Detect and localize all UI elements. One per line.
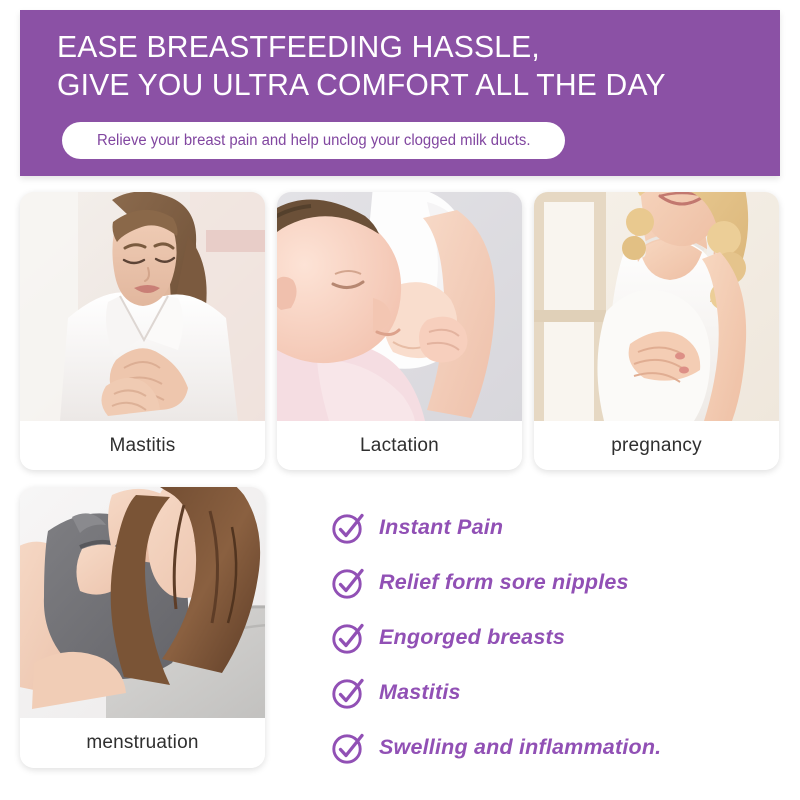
circle-check-icon [331, 676, 365, 710]
card-mastitis-label: Mastitis [110, 435, 176, 457]
card-mastitis[interactable]: Mastitis [20, 192, 265, 470]
card-pregnancy[interactable]: pregnancy [534, 192, 779, 470]
card-lactation-label: Lactation [360, 435, 439, 457]
benefit-item: Engorged breasts [331, 610, 781, 665]
circle-check-icon [331, 511, 365, 545]
circle-check-icon [331, 731, 365, 765]
benefit-text: Instant Pain [379, 515, 503, 540]
card-lactation-photo [277, 192, 522, 421]
benefit-item: Relief form sore nipples [331, 555, 781, 610]
card-menstruation-label-strip: menstruation [20, 718, 265, 768]
infographic-canvas: EASE BREASTFEEDING HASSLE, GIVE YOU ULTR… [0, 0, 800, 800]
benefit-item: Swelling and inflammation. [331, 720, 781, 775]
subtitle-text: Relieve your breast pain and help unclog… [97, 132, 530, 150]
benefit-item: Mastitis [331, 665, 781, 720]
card-menstruation-photo [20, 487, 265, 718]
benefit-text: Relief form sore nipples [379, 570, 629, 595]
card-lactation[interactable]: Lactation [277, 192, 522, 470]
card-lactation-label-strip: Lactation [277, 421, 522, 470]
card-mastitis-photo [20, 192, 265, 421]
benefit-item: Instant Pain [331, 500, 781, 555]
subtitle-pill: Relieve your breast pain and help unclog… [62, 122, 565, 159]
card-menstruation[interactable]: menstruation [20, 487, 265, 768]
header-banner: EASE BREASTFEEDING HASSLE, GIVE YOU ULTR… [20, 10, 780, 176]
benefit-text: Engorged breasts [379, 625, 565, 650]
benefit-text: Mastitis [379, 680, 461, 705]
page-headline: EASE BREASTFEEDING HASSLE, GIVE YOU ULTR… [57, 28, 736, 104]
card-menstruation-label: menstruation [86, 732, 198, 754]
circle-check-icon [331, 621, 365, 655]
benefit-text: Swelling and inflammation. [379, 735, 661, 760]
circle-check-icon [331, 566, 365, 600]
card-pregnancy-label-strip: pregnancy [534, 421, 779, 470]
benefits-list: Instant Pain Relief form sore nipples En… [331, 500, 781, 775]
card-pregnancy-label: pregnancy [611, 435, 702, 457]
card-mastitis-label-strip: Mastitis [20, 421, 265, 470]
card-pregnancy-photo [534, 192, 779, 421]
